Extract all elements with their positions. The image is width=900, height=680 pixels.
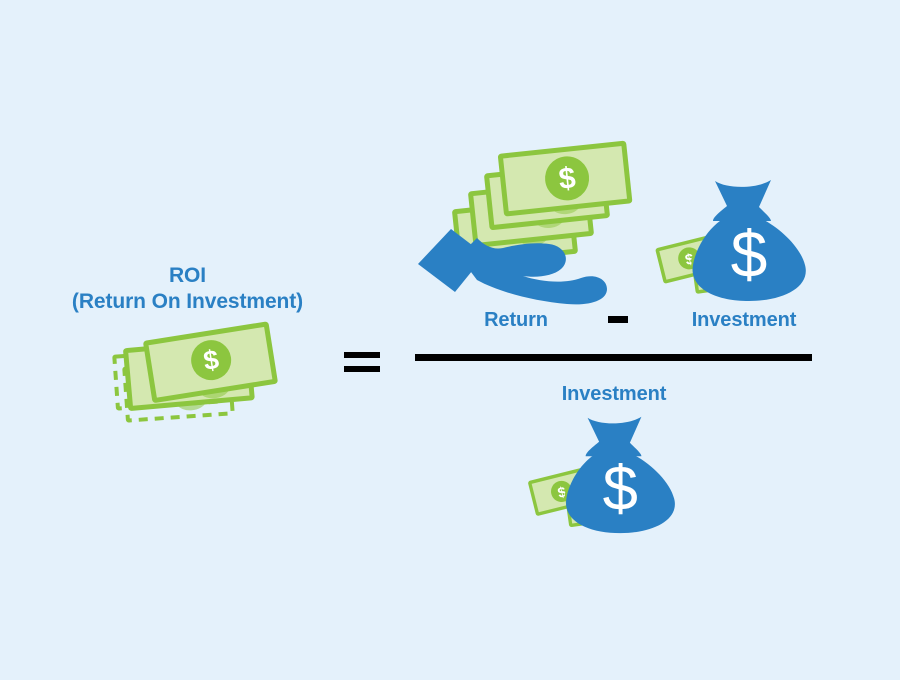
label-investment-numerator: Investment (668, 309, 820, 332)
equals-bar-top (344, 352, 380, 358)
fraction-bar (415, 354, 812, 361)
equals-bar-bottom (344, 366, 380, 372)
stacked-bills-icon: $ (108, 318, 288, 428)
label-return: Return (440, 309, 592, 332)
money-bag-icon-denominator: $ $ $ (527, 412, 702, 537)
minus-sign (608, 316, 628, 323)
roi-formula-diagram: ROI (Return On Investment) $ (0, 0, 900, 680)
svg-text:$: $ (731, 217, 768, 291)
roi-label: ROI (Return On Investment) (20, 263, 355, 316)
svg-text:$: $ (603, 454, 638, 524)
label-investment-denominator: Investment (538, 383, 690, 406)
money-bag-icon: $ $ $ (653, 175, 833, 305)
hand-holding-money-icon: $ (415, 140, 635, 305)
roi-abbreviation: ROI (20, 263, 355, 289)
roi-expansion: (Return On Investment) (20, 289, 355, 315)
equals-sign (344, 344, 384, 380)
